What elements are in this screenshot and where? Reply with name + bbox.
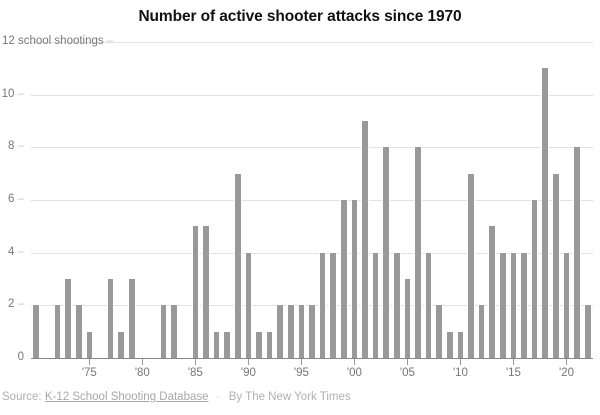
- bar[interactable]: [541, 68, 549, 358]
- bar[interactable]: [573, 147, 581, 358]
- bar[interactable]: [192, 226, 200, 358]
- bar[interactable]: [223, 332, 231, 358]
- bar[interactable]: [255, 332, 263, 358]
- bar[interactable]: [404, 279, 412, 358]
- bar[interactable]: [266, 332, 274, 358]
- x-axis-label-'15: '15: [506, 367, 521, 379]
- bar[interactable]: [552, 174, 560, 358]
- bar[interactable]: [308, 305, 316, 358]
- bar[interactable]: [446, 332, 454, 358]
- x-axis-tick-'15: [513, 359, 514, 365]
- bar[interactable]: [351, 200, 359, 358]
- source-prefix: Source:: [2, 391, 42, 403]
- x-axis-tick-'80: [142, 359, 143, 365]
- bar[interactable]: [435, 305, 443, 358]
- x-axis-label-'00: '00: [347, 367, 362, 379]
- bar[interactable]: [531, 200, 539, 358]
- bar[interactable]: [457, 332, 465, 358]
- x-axis-tick-'05: [407, 359, 408, 365]
- y-axis-label-8: 8 –: [0, 141, 24, 153]
- bar[interactable]: [86, 332, 94, 358]
- bar[interactable]: [234, 174, 242, 358]
- gridline-6: [31, 200, 593, 201]
- x-axis-tick-'90: [248, 359, 249, 365]
- bar[interactable]: [372, 253, 380, 358]
- x-axis-label-'10: '10: [453, 367, 468, 379]
- bar[interactable]: [393, 253, 401, 358]
- x-axis-label-'75: '75: [82, 367, 97, 379]
- bar[interactable]: [276, 305, 284, 358]
- gridline-12: [31, 42, 593, 43]
- bar[interactable]: [329, 253, 337, 358]
- bar[interactable]: [287, 305, 295, 358]
- axis-baseline: [31, 358, 593, 359]
- x-axis-label-'85: '85: [188, 367, 203, 379]
- x-axis-tick-'10: [460, 359, 461, 365]
- x-axis-tick-'95: [301, 359, 302, 365]
- bar[interactable]: [298, 305, 306, 358]
- bar[interactable]: [499, 253, 507, 358]
- page-title: Number of active shooter attacks since 1…: [0, 8, 600, 26]
- gridline-8: [31, 147, 593, 148]
- bar[interactable]: [75, 305, 83, 358]
- bar[interactable]: [319, 253, 327, 358]
- bar[interactable]: [467, 174, 475, 358]
- x-axis-label-'95: '95: [294, 367, 309, 379]
- x-axis-tick-'20: [566, 359, 567, 365]
- bar[interactable]: [202, 226, 210, 358]
- bar[interactable]: [510, 253, 518, 358]
- y-axis-label-12: 12 school shootings –: [2, 36, 113, 48]
- bar[interactable]: [382, 147, 390, 358]
- bar[interactable]: [340, 200, 348, 358]
- gridline-10: [31, 95, 593, 96]
- x-axis-tick-'75: [89, 359, 90, 365]
- x-axis-label-'80: '80: [135, 367, 150, 379]
- bar[interactable]: [128, 279, 136, 358]
- source-link[interactable]: K-12 School Shooting Database: [45, 391, 209, 403]
- bar[interactable]: [478, 305, 486, 358]
- x-axis-tick-'00: [354, 359, 355, 365]
- bar[interactable]: [170, 305, 178, 358]
- bar[interactable]: [54, 305, 62, 358]
- x-axis-label-'20: '20: [559, 367, 574, 379]
- bar[interactable]: [414, 147, 422, 358]
- bar[interactable]: [117, 332, 125, 358]
- footer-separator: ·: [212, 391, 224, 403]
- y-axis-label-10: 10 –: [0, 89, 24, 101]
- bar[interactable]: [425, 253, 433, 358]
- y-axis-label-4: 4 –: [0, 247, 24, 259]
- bar[interactable]: [488, 226, 496, 358]
- bar[interactable]: [361, 121, 369, 358]
- chart-container: Number of active shooter attacks since 1…: [0, 0, 600, 415]
- bar[interactable]: [64, 279, 72, 358]
- y-axis-label-2: 2 –: [0, 299, 24, 311]
- bar[interactable]: [213, 332, 221, 358]
- plot-area: '75'80'85'90'95'00'05'10'15'20: [31, 42, 593, 358]
- x-axis-tick-'85: [195, 359, 196, 365]
- chart-footer: Source: K-12 School Shooting Database · …: [2, 391, 351, 403]
- x-axis-label-'90: '90: [241, 367, 256, 379]
- bar[interactable]: [563, 253, 571, 358]
- x-axis-label-'05: '05: [400, 367, 415, 379]
- bar[interactable]: [160, 305, 168, 358]
- bar[interactable]: [584, 305, 592, 358]
- bar[interactable]: [520, 253, 528, 358]
- bar[interactable]: [107, 279, 115, 358]
- y-axis-label-6: 6 –: [0, 194, 24, 206]
- byline: By The New York Times: [227, 391, 351, 403]
- y-axis-label-0: 0: [0, 352, 24, 364]
- bar[interactable]: [245, 253, 253, 358]
- bar[interactable]: [32, 305, 40, 358]
